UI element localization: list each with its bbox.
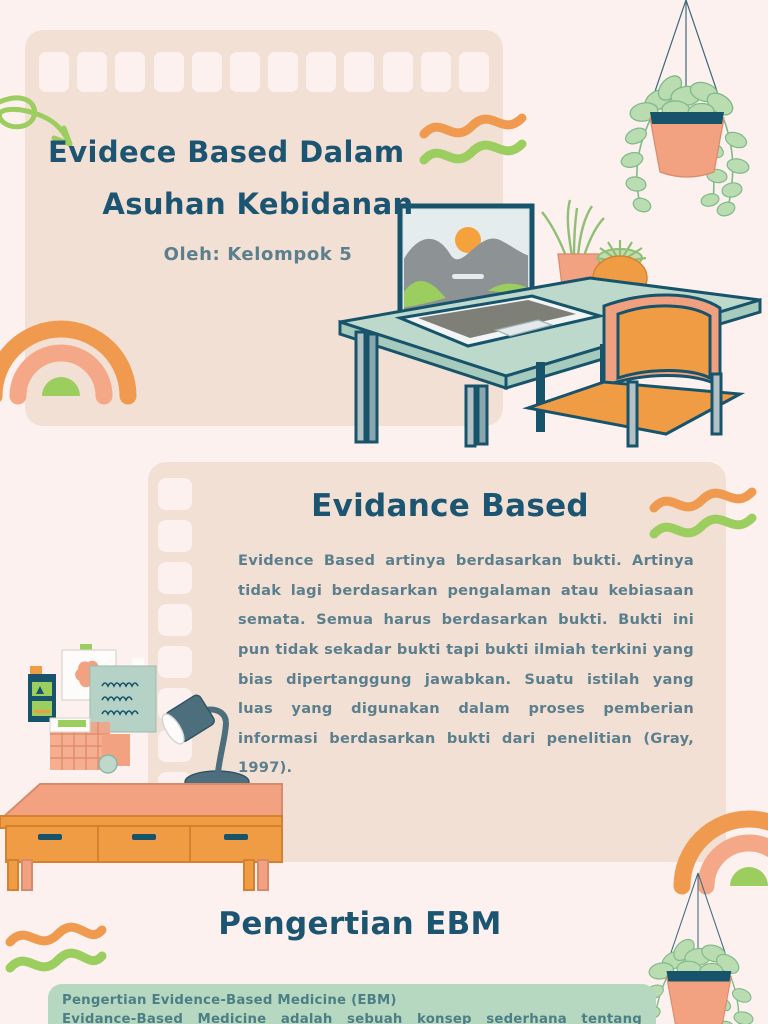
perforation: [344, 52, 374, 92]
perforation: [115, 52, 145, 92]
perforation: [158, 562, 192, 594]
perforation: [154, 52, 184, 92]
slide-page: Evidece Based Dalam Asuhan Kebidanan Ole…: [0, 0, 768, 1024]
ebm-box-line2: Evidance-Based Medicine adalah sebuah ko…: [62, 1010, 642, 1024]
perforation: [158, 520, 192, 552]
perforation: [192, 52, 222, 92]
ebm-definition-box: Pengertian Evidence-Based Medicine (EBM)…: [48, 984, 656, 1024]
desk-lamp-icon: [158, 693, 249, 793]
ebm-box-line1: Pengertian Evidence-Based Medicine (EBM): [62, 991, 642, 1010]
perforation: [383, 52, 413, 92]
rainbow-icon: [674, 768, 768, 888]
perforation: [77, 52, 107, 92]
perforation: [39, 52, 69, 92]
evidence-section-heading: Evidance Based: [190, 488, 710, 524]
page-subtitle: Oleh: Kelompok 5: [48, 244, 468, 265]
desk-with-laptop-illustration: [300, 196, 768, 446]
perforation: [421, 52, 451, 92]
evidence-section-body: Evidence Based artinya berdasarkan bukti…: [238, 546, 694, 783]
perforation: [268, 52, 298, 92]
page-title-line1: Evidece Based Dalam: [48, 138, 468, 167]
perforation: [459, 52, 489, 92]
mood-board-icon: [28, 644, 156, 773]
rainbow-icon: [0, 278, 136, 398]
hanging-plant-icon: [606, 0, 766, 215]
perforation: [230, 52, 260, 92]
film-perforation-row: [39, 52, 489, 92]
ebm-section-heading: Pengertian EBM: [60, 906, 660, 942]
perforation: [306, 52, 336, 92]
page-title-line2: Asuhan Kebidanan: [48, 190, 468, 219]
perforation: [158, 478, 192, 510]
